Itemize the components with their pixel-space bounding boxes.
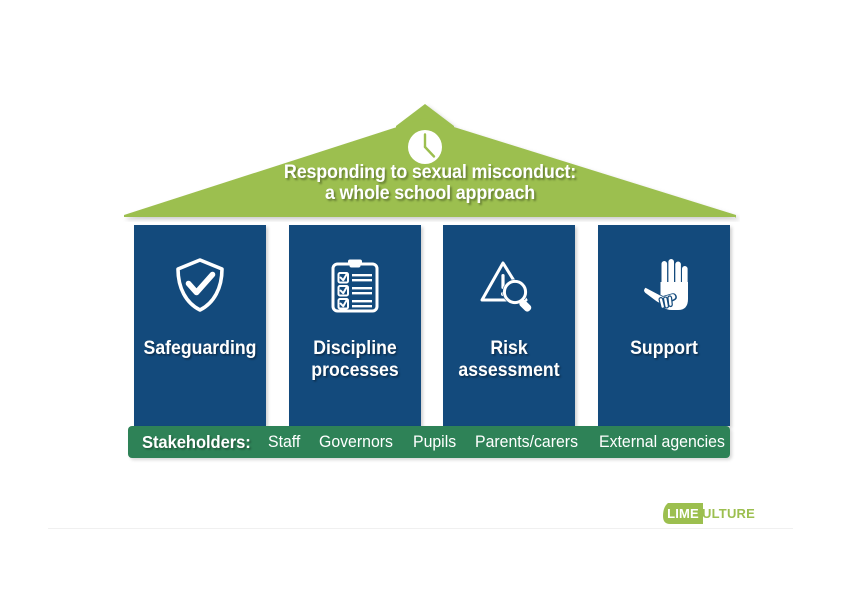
stakeholders-list: Staff Governors Pupils Parents/carers Ex… xyxy=(268,433,730,452)
roof-with-clock-tower xyxy=(120,82,740,222)
pillar-label-line: processes xyxy=(311,360,398,381)
lime-culture-logo: LIME CULTURE xyxy=(663,502,755,524)
clipboard-checklist-icon xyxy=(322,252,388,318)
pillar-label-risk-assessment: Risk assessment xyxy=(452,338,567,382)
pillar-risk-assessment[interactable]: Risk assessment xyxy=(443,225,575,426)
pillar-group: Safeguarding xyxy=(134,225,730,426)
pillar-label-discipline-processes: Discipline processes xyxy=(297,338,412,382)
footer-divider xyxy=(48,528,793,529)
pillar-label-line: Safeguarding xyxy=(144,338,257,359)
pillar-label-line: Support xyxy=(630,338,698,359)
pillar-discipline-processes[interactable]: Discipline processes xyxy=(289,225,421,426)
school-building-diagram: Responding to sexual misconduct: a whole… xyxy=(120,82,740,462)
pillar-label-safeguarding: Safeguarding xyxy=(142,338,257,360)
logo-mark-text: LIME xyxy=(663,503,703,524)
pillar-label-line: Risk xyxy=(491,338,528,359)
warning-magnifier-icon xyxy=(476,252,542,318)
shield-check-icon xyxy=(167,252,233,318)
pillar-label-line: Discipline xyxy=(313,338,396,359)
stakeholder-item[interactable]: External agencies xyxy=(599,433,725,452)
pillar-support[interactable]: Support xyxy=(598,225,730,426)
stakeholder-item[interactable]: Pupils xyxy=(413,433,456,452)
stakeholders-title: Stakeholders: xyxy=(142,432,251,453)
stakeholder-item[interactable]: Staff xyxy=(268,433,300,452)
helping-hand-icon xyxy=(631,252,697,318)
pillar-safeguarding[interactable]: Safeguarding xyxy=(134,225,266,426)
stakeholder-item[interactable]: Parents/carers xyxy=(475,433,578,452)
pillar-label-line: assessment xyxy=(459,360,560,381)
logo-leaf-mark: LIME xyxy=(663,503,689,524)
stakeholder-item[interactable]: Governors xyxy=(319,433,393,452)
pillar-label-support: Support xyxy=(606,338,721,360)
infographic-canvas: Responding to sexual misconduct: a whole… xyxy=(0,0,841,595)
stakeholders-bar: Stakeholders: Staff Governors Pupils Par… xyxy=(128,426,730,458)
